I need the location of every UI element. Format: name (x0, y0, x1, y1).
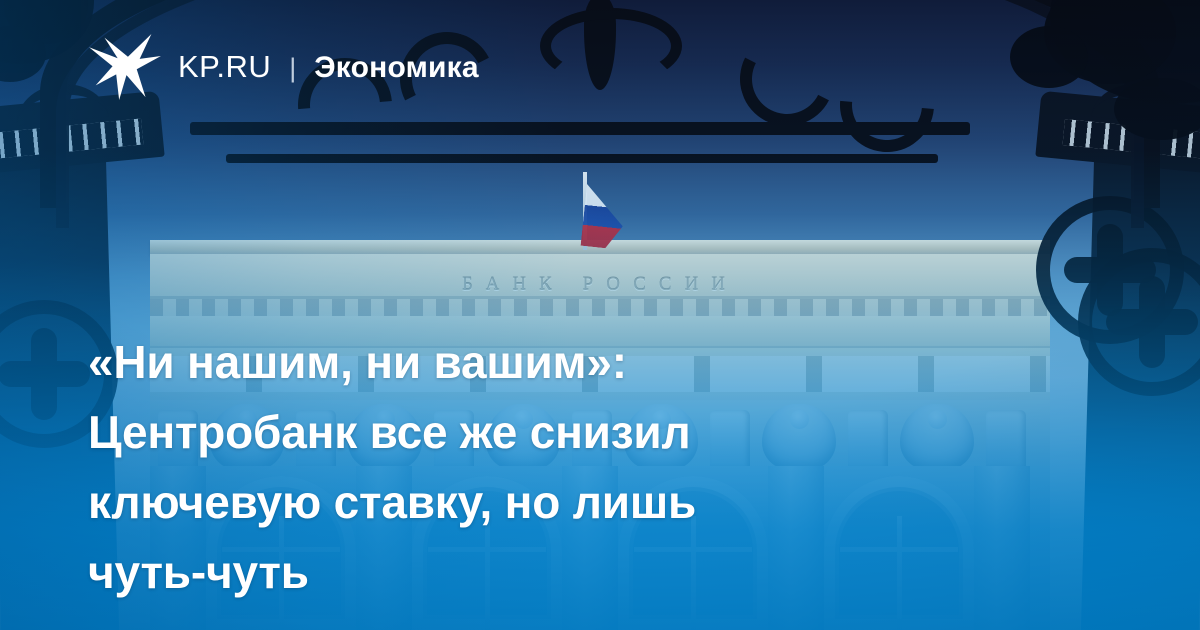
headline-line-2: Центробанк все же снизил (88, 397, 888, 467)
kp-swallow-bird-logo-icon[interactable] (88, 34, 162, 100)
rubric-label[interactable]: Экономика (314, 51, 478, 85)
headline-line-3: ключевую ставку, но лишь (88, 467, 888, 537)
article-headline: «Ни нашим, ни вашим»: Центробанк все же … (88, 327, 888, 607)
article-share-card: БАНК РОССИИ (0, 0, 1200, 630)
brand-separator: | (289, 53, 296, 84)
brand-header: KP.RU | Экономика (88, 34, 479, 100)
headline-line-1: «Ни нашим, ни вашим»: (88, 327, 888, 397)
site-name[interactable]: KP.RU (178, 49, 271, 85)
headline-line-4: чуть-чуть (88, 537, 888, 607)
brand-text-row: KP.RU | Экономика (178, 49, 479, 85)
